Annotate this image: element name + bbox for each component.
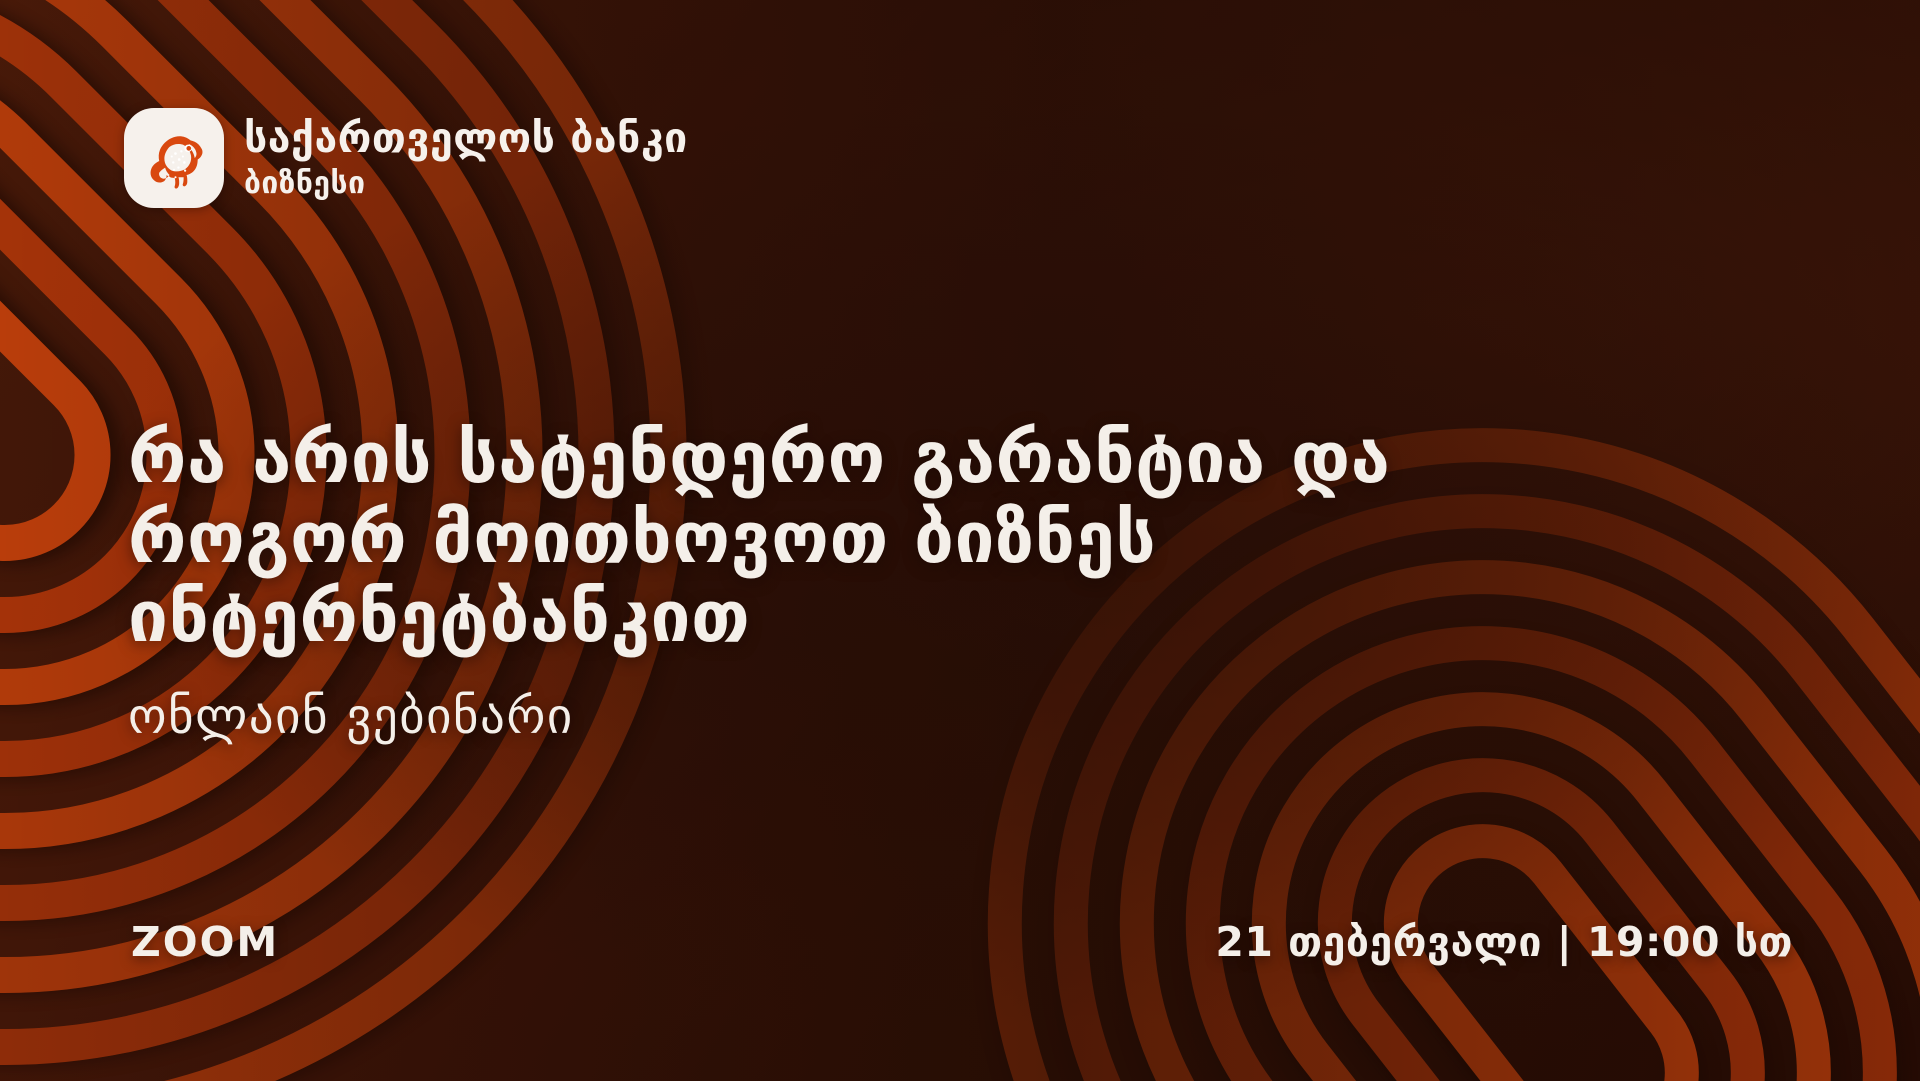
brand-wordmark: საქართველოს ბანკი ბიზნესი <box>244 118 688 199</box>
headline-line-1: რა არის სატენდერო გარანტია და <box>128 418 1390 498</box>
brand-name: საქართველოს ბანკი <box>244 118 688 159</box>
brand-sub: ბიზნესი <box>244 169 688 199</box>
platform-label: ZOOM <box>131 918 279 966</box>
brand-logo: საქართველოს ბანკი ბიზნესი <box>124 108 688 208</box>
webinar-banner: საქართველოს ბანკი ბიზნესი რა არის სატენდ… <box>0 0 1920 1081</box>
subtitle: ონლაინ ვებინარი <box>128 688 574 745</box>
headline-line-3: ინტერნეტბანკით <box>128 577 1390 657</box>
bank-of-georgia-lion-icon <box>124 108 224 208</box>
headline-line-2: როგორ მოითხოვოთ ბიზნეს <box>128 498 1390 578</box>
headline: რა არის სატენდერო გარანტია და როგორ მოით… <box>128 418 1390 657</box>
event-datetime: 21 თებერვალი | 19:00 სთ <box>1215 918 1793 966</box>
